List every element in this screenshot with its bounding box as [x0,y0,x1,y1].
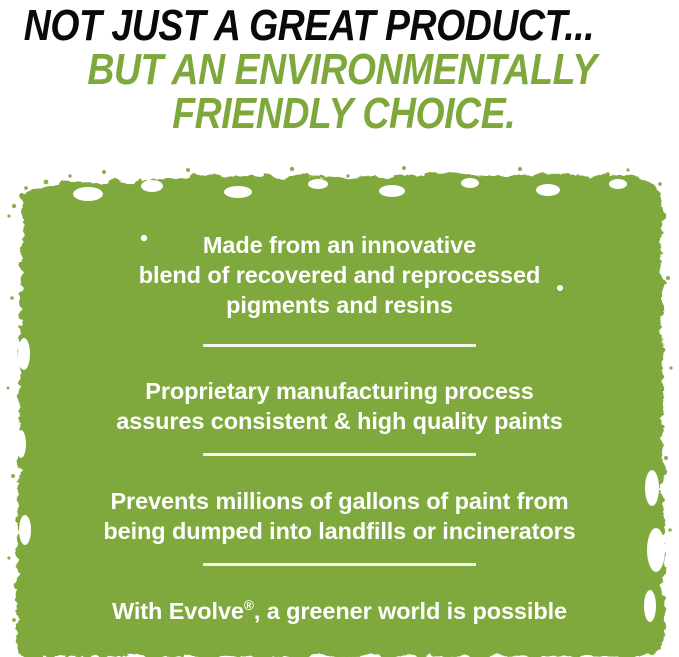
divider-2 [203,453,476,456]
headline-line-3: FRIENDLY CHOICE. [51,92,628,135]
feature-1-line-2: blend of recovered and reprocessed [0,260,679,290]
feature-proprietary-process: Proprietary manufacturing process assure… [0,376,679,436]
brand-name-evolve: Evolve [169,598,244,624]
registered-trademark-icon: ® [244,598,254,613]
feature-made-from: Made from an innovative blend of recover… [0,230,679,320]
headline-line-2: BUT AN ENVIRONMENTALLY [51,48,628,91]
feature-1-line-3: pigments and resins [0,290,679,320]
feature-4-line-1: With Evolve®, a greener world is possibl… [0,596,679,626]
feature-2-line-2: assures consistent & high quality paints [0,406,679,436]
divider-1 [203,344,476,347]
headline-line-1: NOT JUST A GREAT PRODUCT... [0,4,577,47]
tagline-suffix: , a greener world is possible [254,598,567,624]
feature-3-line-2: being dumped into landfills or incinerat… [0,516,679,546]
headline-block: NOT JUST A GREAT PRODUCT... BUT AN ENVIR… [0,0,679,135]
feature-prevents-gallons: Prevents millions of gallons of paint fr… [0,486,679,546]
green-feature-panel: Made from an innovative blend of recover… [0,158,679,657]
tagline-prefix: With [112,598,169,624]
feature-evolve-tagline: With Evolve®, a greener world is possibl… [0,596,679,626]
feature-3-line-1: Prevents millions of gallons of paint fr… [0,486,679,516]
feature-2-line-1: Proprietary manufacturing process [0,376,679,406]
divider-3 [203,563,476,566]
feature-1-line-1: Made from an innovative [0,230,679,260]
